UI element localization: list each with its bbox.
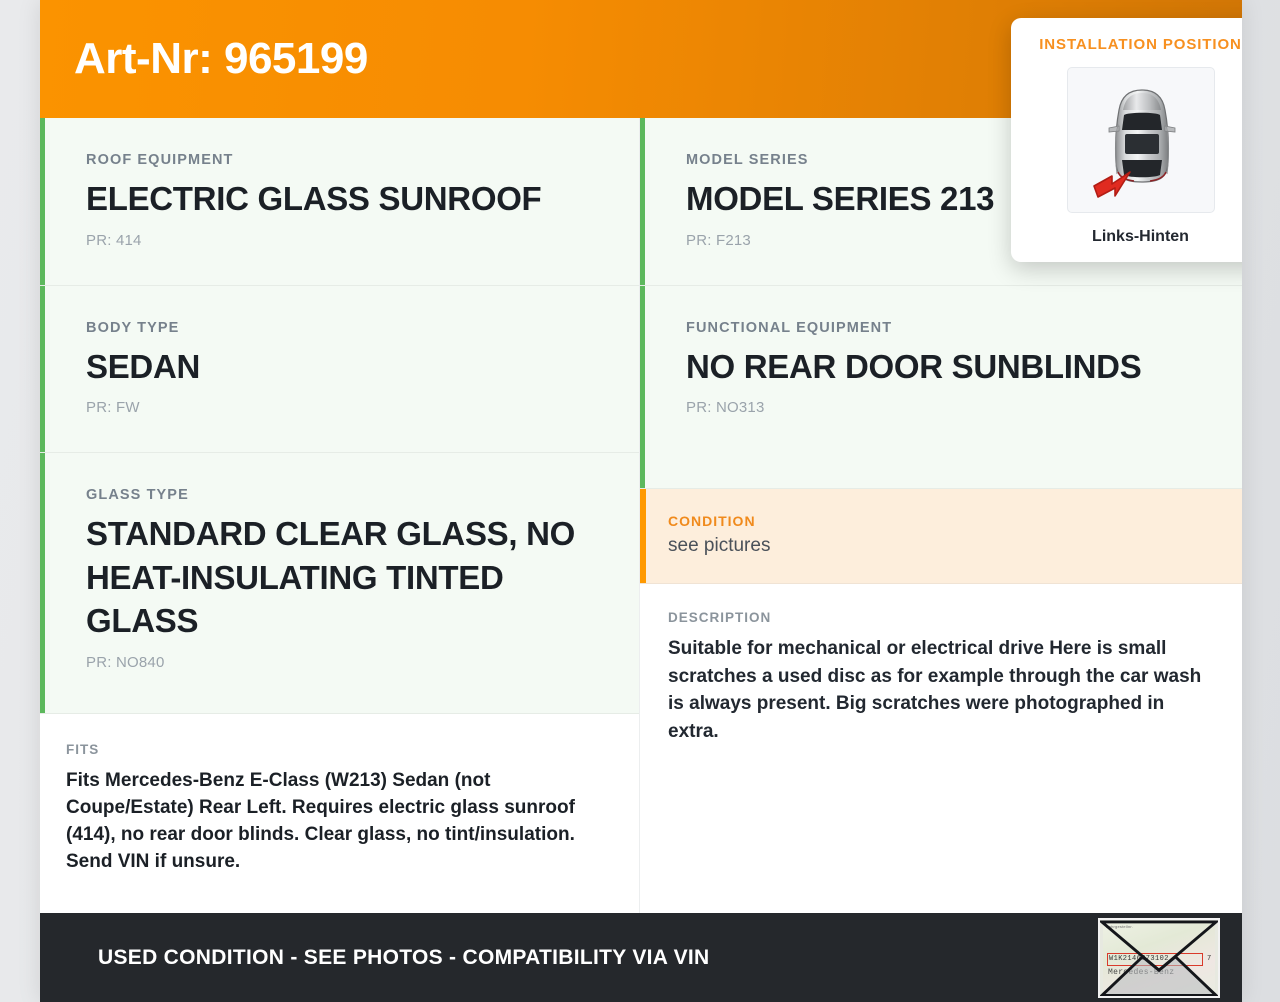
- description-text: Suitable for mechanical or electrical dr…: [668, 635, 1208, 745]
- description-label: DESCRIPTION: [668, 610, 1214, 625]
- installation-position-title: INSTALLATION POSITION: [1027, 36, 1242, 53]
- spec-functional-equipment: FUNCTIONAL EQUIPMENT NO REAR DOOR SUNBLI…: [640, 286, 1242, 490]
- fits-section: FITS Fits Mercedes-Benz E-Class (W213) S…: [40, 714, 639, 902]
- left-column: ROOF EQUIPMENT ELECTRIC GLASS SUNROOF PR…: [40, 118, 640, 913]
- spec-pr-code: PR: NO840: [86, 654, 593, 671]
- car-top-view-icon: [1067, 67, 1215, 213]
- description-section: DESCRIPTION Suitable for mechanical or e…: [640, 584, 1242, 913]
- spec-label: FUNCTIONAL EQUIPMENT: [686, 320, 1196, 336]
- condition-value: see pictures: [668, 535, 1214, 557]
- condition-label: CONDITION: [668, 513, 1214, 529]
- footer-banner-text: USED CONDITION - SEE PHOTOS - COMPATIBIL…: [98, 946, 710, 970]
- spec-value: NO REAR DOOR SUNBLINDS: [686, 345, 1196, 389]
- vehicle-registration-envelope-icon: Fahrgestellnr. W1K2146273102 7 Mercedes-…: [1098, 918, 1220, 998]
- red-arrow-icon: [1094, 172, 1130, 197]
- car-diagram-svg: [1068, 68, 1216, 214]
- envelope-icon: [1100, 920, 1218, 997]
- condition-section: CONDITION see pictures: [640, 489, 1242, 584]
- spec-label: BODY TYPE: [86, 320, 593, 336]
- installation-position-caption: Links-Hinten: [1027, 228, 1242, 246]
- spec-value: ELECTRIC GLASS SUNROOF: [86, 177, 593, 221]
- listing-card: Art-Nr: 965199 ROOF EQUIPMENT ELECTRIC G…: [40, 0, 1242, 1002]
- spec-pr-code: PR: FW: [86, 399, 593, 416]
- page-title: Art-Nr: 965199: [74, 37, 368, 81]
- installation-position-card: INSTALLATION POSITION: [1011, 18, 1242, 262]
- fits-text: Fits Mercedes-Benz E-Class (W213) Sedan …: [66, 767, 613, 876]
- spec-label: ROOF EQUIPMENT: [86, 152, 593, 168]
- card-footer: USED CONDITION - SEE PHOTOS - COMPATIBIL…: [40, 913, 1242, 1002]
- spec-roof-equipment: ROOF EQUIPMENT ELECTRIC GLASS SUNROOF PR…: [40, 118, 639, 286]
- spec-value: SEDAN: [86, 345, 593, 389]
- spec-body-type: BODY TYPE SEDAN PR: FW: [40, 286, 639, 454]
- spec-value: STANDARD CLEAR GLASS, NO HEAT-INSULATING…: [86, 512, 586, 643]
- fits-label: FITS: [66, 742, 613, 757]
- spec-glass-type: GLASS TYPE STANDARD CLEAR GLASS, NO HEAT…: [40, 453, 639, 714]
- spec-pr-code: PR: NO313: [686, 399, 1196, 416]
- spec-pr-code: PR: 414: [86, 232, 593, 249]
- spec-label: GLASS TYPE: [86, 487, 593, 503]
